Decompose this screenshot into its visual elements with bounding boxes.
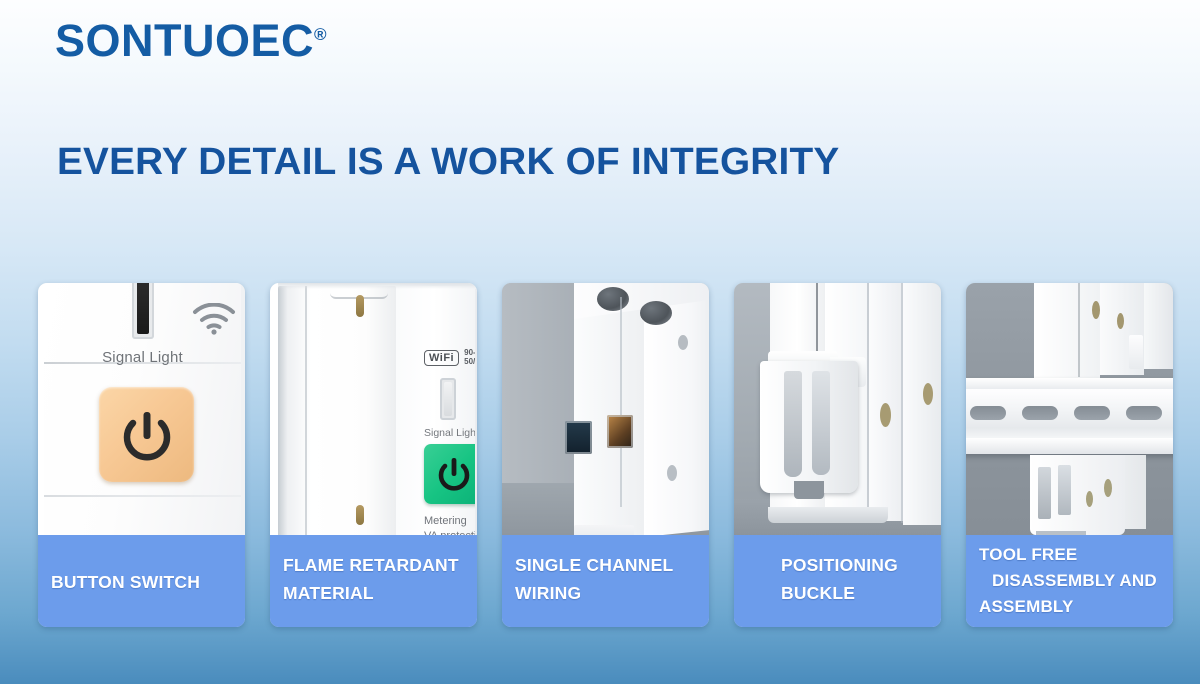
device-cover-panel [278, 286, 396, 541]
card-photo-single-channel-wiring [502, 283, 709, 541]
card-caption-button-switch: BUTTON SWITCH [38, 535, 245, 627]
rivet-dot-2 [923, 383, 933, 405]
wiring-window-2 [607, 415, 633, 448]
wiring-window-1 [565, 421, 592, 454]
positioning-buckle [760, 361, 858, 493]
device-body: Signal Light [44, 283, 241, 541]
wifi-text-badge: WiFi [424, 350, 459, 366]
page-title: EVERY DETAIL IS A WORK OF INTEGRITY [57, 141, 839, 184]
signal-light-label: Signal Light [424, 427, 477, 439]
feature-card-button-switch[interactable]: Signal Light BUTTON SWITCH [38, 283, 245, 627]
device-body-3 [869, 283, 903, 521]
card-photo-positioning-buckle [734, 283, 941, 541]
caption-line: BUTTON SWITCH [51, 568, 245, 596]
device-right-edge [475, 289, 477, 541]
device-cover-edge [305, 286, 307, 541]
buckle-slot-left [784, 371, 802, 477]
signal-light-label: Signal Light [44, 349, 241, 366]
power-icon [120, 407, 174, 463]
caption-line: WIRING [515, 579, 709, 607]
metering-line-1: Metering [424, 515, 467, 527]
feature-card-single-channel-wiring[interactable]: SINGLE CHANNEL WIRING [502, 283, 709, 627]
rivet-dot-1 [678, 335, 688, 350]
caption-line: SINGLE CHANNEL [515, 551, 709, 579]
buckle-notch [794, 481, 824, 499]
terminal-hole-1 [597, 287, 629, 311]
caption-line: DISASSEMBLY AND [979, 568, 1173, 594]
screw-bottom-icon [356, 505, 364, 525]
feature-card-positioning-buckle[interactable]: POSITIONING BUCKLE [734, 283, 941, 627]
power-button[interactable] [424, 444, 477, 504]
upper-device-tab [1129, 335, 1143, 369]
screw-top-icon [356, 295, 364, 317]
card-photo-button-switch: Signal Light [38, 283, 245, 541]
caption-line: POSITIONING [781, 551, 941, 579]
device-seam-2 [867, 283, 869, 521]
din-rail-slot-2 [1022, 406, 1058, 420]
device-face-panel: WiFi 90-300V 50/60Hz [396, 286, 477, 541]
power-icon [436, 455, 472, 493]
din-rail-slot-4 [1126, 406, 1162, 420]
card-caption-tool-free-assembly: TOOL FREE DISASSEMBLY AND ASSEMBLY [966, 535, 1173, 627]
wifi-spec-group: WiFi 90-300V 50/60Hz [424, 349, 477, 367]
upper-rivet-2 [1117, 313, 1124, 329]
card-photo-flame-retardant: WiFi 90-300V 50/60Hz [270, 283, 477, 541]
card-photo-tool-free-assembly [966, 283, 1173, 541]
din-rail-bottom-flange [966, 438, 1173, 454]
power-button[interactable] [99, 387, 194, 482]
lower-buckle-slot-left [1038, 467, 1051, 519]
din-rail-slot-3 [1074, 406, 1110, 420]
rivet-dot-1 [880, 403, 891, 427]
upper-device-1 [1034, 283, 1100, 385]
upper-device-3 [1144, 283, 1173, 369]
card-caption-single-channel-wiring: SINGLE CHANNEL WIRING [502, 535, 709, 627]
signal-led-slot [440, 378, 456, 420]
device-base [768, 507, 888, 523]
wifi-icon [192, 303, 236, 335]
upper-device-seam [1078, 283, 1080, 377]
terminal-hole-2 [640, 301, 672, 325]
brand-name: SONTUOEC [55, 15, 314, 66]
registered-mark-icon: ® [314, 25, 327, 44]
wifi-badge-text: WiFi [429, 352, 454, 364]
rivet-dot-2 [667, 465, 677, 481]
caption-line: BUCKLE [781, 579, 941, 607]
lower-rivet-1 [1104, 479, 1112, 497]
slide-root: SONTUOEC® EVERY DETAIL IS A WORK OF INTE… [0, 0, 1200, 684]
device-body-4 [903, 283, 941, 525]
din-rail-top-flange [966, 378, 1173, 389]
card-caption-flame-retardant: FLAME RETARDANT MATERIAL [270, 535, 477, 627]
buckle-slot-right [812, 371, 830, 475]
feature-card-tool-free-assembly[interactable]: TOOL FREE DISASSEMBLY AND ASSEMBLY [966, 283, 1173, 627]
caption-line: ASSEMBLY [979, 594, 1173, 620]
caption-line: MATERIAL [283, 579, 477, 607]
device-seam [620, 297, 622, 507]
feature-card-flame-retardant-material[interactable]: WiFi 90-300V 50/60Hz [270, 283, 477, 627]
lower-rivet-2 [1086, 491, 1093, 507]
device-seam-3 [901, 283, 903, 523]
feature-card-strip: Signal Light BUTTON SWITCH [38, 283, 1166, 627]
brand-logo: SONTUOEC® [55, 18, 327, 63]
caption-line: FLAME RETARDANT [283, 551, 477, 579]
caption-line: TOOL FREE [979, 542, 1173, 568]
card-caption-positioning-buckle: POSITIONING BUCKLE [734, 535, 941, 627]
signal-led-slot [132, 283, 154, 339]
lower-buckle-slot-right [1058, 465, 1071, 515]
din-rail-slot-1 [970, 406, 1006, 420]
device-seam-lower [44, 495, 241, 497]
upper-rivet-1 [1092, 301, 1100, 319]
